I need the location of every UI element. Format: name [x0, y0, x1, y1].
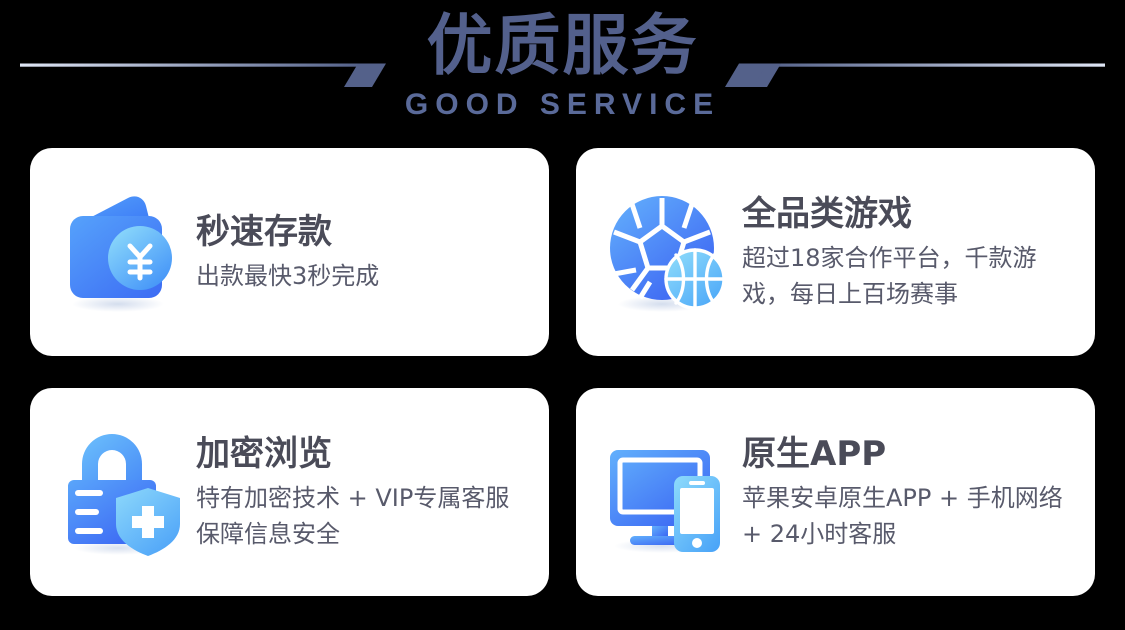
card-title: 秒速存款 [196, 210, 529, 254]
page-header: 优质服务 GOOD SERVICE [0, 0, 1125, 140]
card-title: 全品类游戏 [742, 192, 1075, 236]
card-description: 苹果安卓原生APP + 手机网络 + 24小时客服 [742, 480, 1075, 552]
wallet-icon [56, 186, 188, 318]
page-subtitle: GOOD SERVICE [0, 88, 1125, 122]
feature-card[interactable]: 原生APP 苹果安卓原生APP + 手机网络 + 24小时客服 [576, 388, 1095, 596]
feature-card[interactable]: 全品类游戏 超过18家合作平台，千款游戏，每日上百场赛事 [576, 148, 1095, 356]
feature-card[interactable]: 加密浏览 特有加密技术 + VIP专属客服保障信息安全 [30, 388, 549, 596]
page-title: 优质服务 [0, 6, 1125, 86]
card-text-block: 全品类游戏 超过18家合作平台，千款游戏，每日上百场赛事 [742, 192, 1075, 312]
card-description: 出款最快3秒完成 [196, 258, 529, 294]
card-title: 加密浏览 [196, 432, 529, 476]
monitor-phone-icon [602, 426, 734, 558]
card-description: 特有加密技术 + VIP专属客服保障信息安全 [196, 480, 529, 552]
soccer-basketball-icon [602, 186, 734, 318]
card-title: 原生APP [742, 432, 1075, 476]
card-text-block: 秒速存款 出款最快3秒完成 [196, 210, 529, 294]
header-title-block: 优质服务 GOOD SERVICE [0, 6, 1125, 122]
card-text-block: 原生APP 苹果安卓原生APP + 手机网络 + 24小时客服 [742, 432, 1075, 552]
feature-card[interactable]: 秒速存款 出款最快3秒完成 [30, 148, 549, 356]
card-description: 超过18家合作平台，千款游戏，每日上百场赛事 [742, 240, 1075, 312]
card-text-block: 加密浏览 特有加密技术 + VIP专属客服保障信息安全 [196, 432, 529, 552]
lock-shield-icon [56, 426, 188, 558]
feature-card-grid: 秒速存款 出款最快3秒完成 [30, 148, 1095, 596]
